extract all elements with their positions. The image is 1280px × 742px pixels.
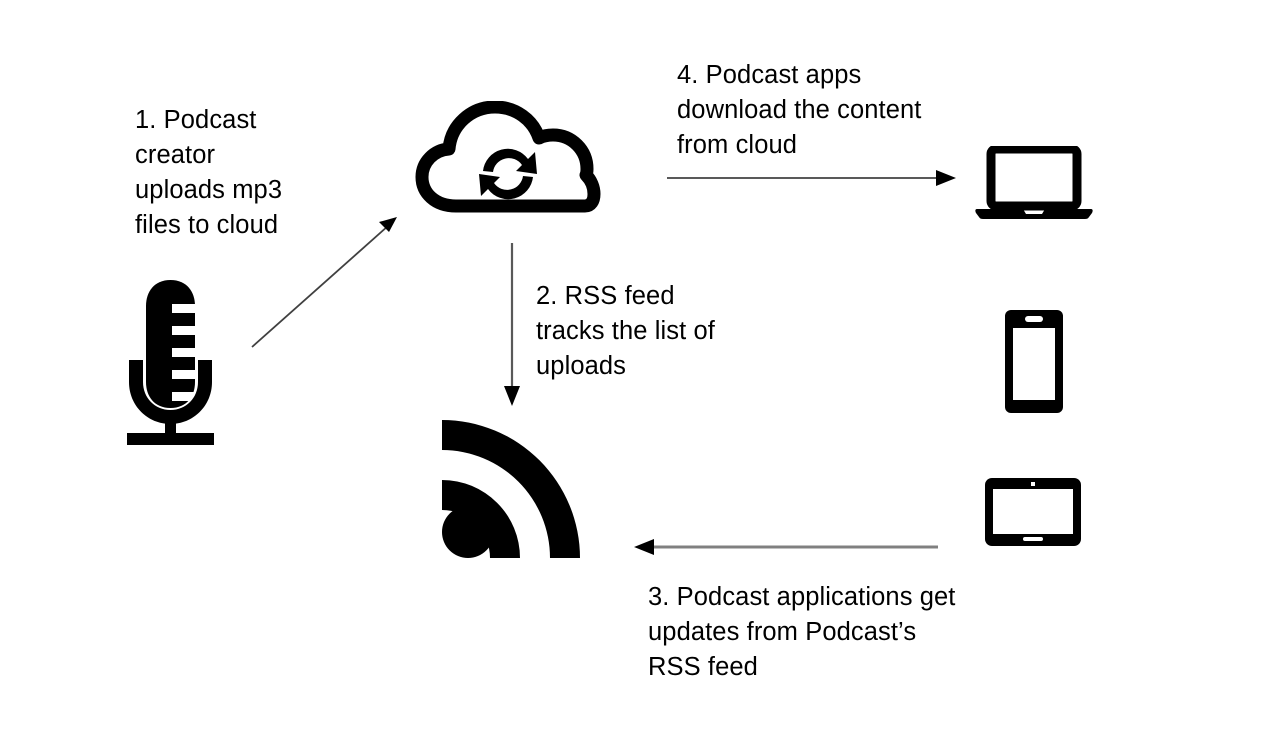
step-1-label: 1. Podcast creator uploads mp3 files to … [135, 103, 405, 243]
step-2-label: 2. RSS feed tracks the list of uploads [536, 279, 796, 384]
rss-feed-icon [440, 418, 582, 560]
microphone-icon [123, 278, 218, 446]
laptop-icon [974, 146, 1094, 220]
smartphone-icon [1003, 308, 1065, 415]
step-4-label: 4. Podcast apps download the content fro… [677, 58, 997, 163]
cloud-sync-icon [415, 101, 601, 218]
tablet-icon [983, 476, 1083, 548]
diagram-canvas: 1. Podcast creator uploads mp3 files to … [0, 0, 1280, 742]
arrow-cloud-to-rss [504, 243, 520, 406]
step-3-label: 3. Podcast applications get updates from… [648, 580, 1008, 685]
arrow-cloud-to-devices [667, 170, 956, 186]
arrow-devices-to-rss [634, 539, 938, 555]
